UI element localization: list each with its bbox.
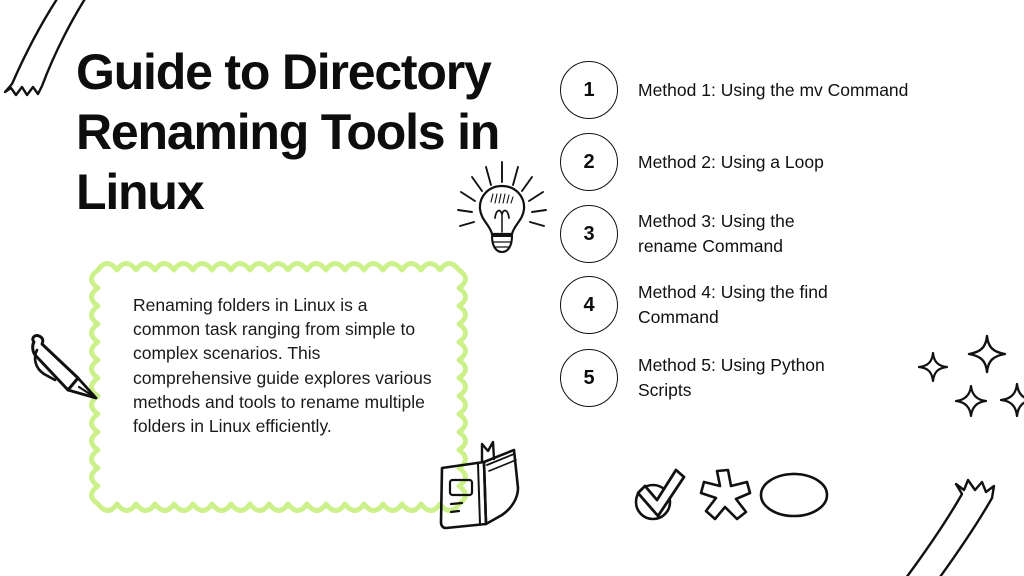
infographic-canvas: Guide to Directory Renaming Tools in Lin… bbox=[0, 0, 1024, 576]
method-number: 4 bbox=[583, 294, 594, 317]
sparkle-icon bbox=[918, 352, 948, 382]
method-item-1[interactable]: 1 Method 1: Using the mv Command bbox=[560, 61, 908, 119]
method-number: 5 bbox=[583, 367, 594, 390]
intro-body-text: Renaming folders in Linux is a common ta… bbox=[133, 293, 433, 438]
method-item-3[interactable]: 3 Method 3: Using the rename Command bbox=[560, 205, 795, 263]
sparkle-icon bbox=[968, 335, 1006, 373]
method-badge-3: 3 bbox=[560, 205, 618, 263]
method-item-2[interactable]: 2 Method 2: Using a Loop bbox=[560, 133, 824, 191]
intro-box: Renaming folders in Linux is a common ta… bbox=[88, 256, 468, 524]
page-title: Guide to Directory Renaming Tools in Lin… bbox=[76, 42, 556, 222]
brush-stroke-bottom-right-icon bbox=[900, 468, 1024, 576]
method-number: 3 bbox=[583, 223, 594, 246]
method-badge-5: 5 bbox=[560, 349, 618, 407]
ellipse-icon bbox=[757, 468, 831, 522]
method-number: 1 bbox=[583, 79, 594, 102]
checkmark-circle-icon bbox=[630, 466, 692, 524]
cross-mark-icon bbox=[697, 468, 755, 522]
sparkle-icon bbox=[1000, 383, 1024, 417]
method-badge-2: 2 bbox=[560, 133, 618, 191]
method-badge-4: 4 bbox=[560, 276, 618, 334]
method-label: Method 1: Using the mv Command bbox=[638, 78, 908, 103]
method-item-4[interactable]: 4 Method 4: Using the find Command bbox=[560, 276, 828, 334]
method-number: 2 bbox=[583, 151, 594, 174]
method-label: Method 2: Using a Loop bbox=[638, 150, 824, 175]
sparkle-icon bbox=[955, 385, 987, 417]
method-item-5[interactable]: 5 Method 5: Using Python Scripts bbox=[560, 349, 825, 407]
method-badge-1: 1 bbox=[560, 61, 618, 119]
method-label: Method 5: Using Python Scripts bbox=[638, 353, 825, 403]
method-label: Method 4: Using the find Command bbox=[638, 280, 828, 330]
method-label: Method 3: Using the rename Command bbox=[638, 209, 795, 259]
